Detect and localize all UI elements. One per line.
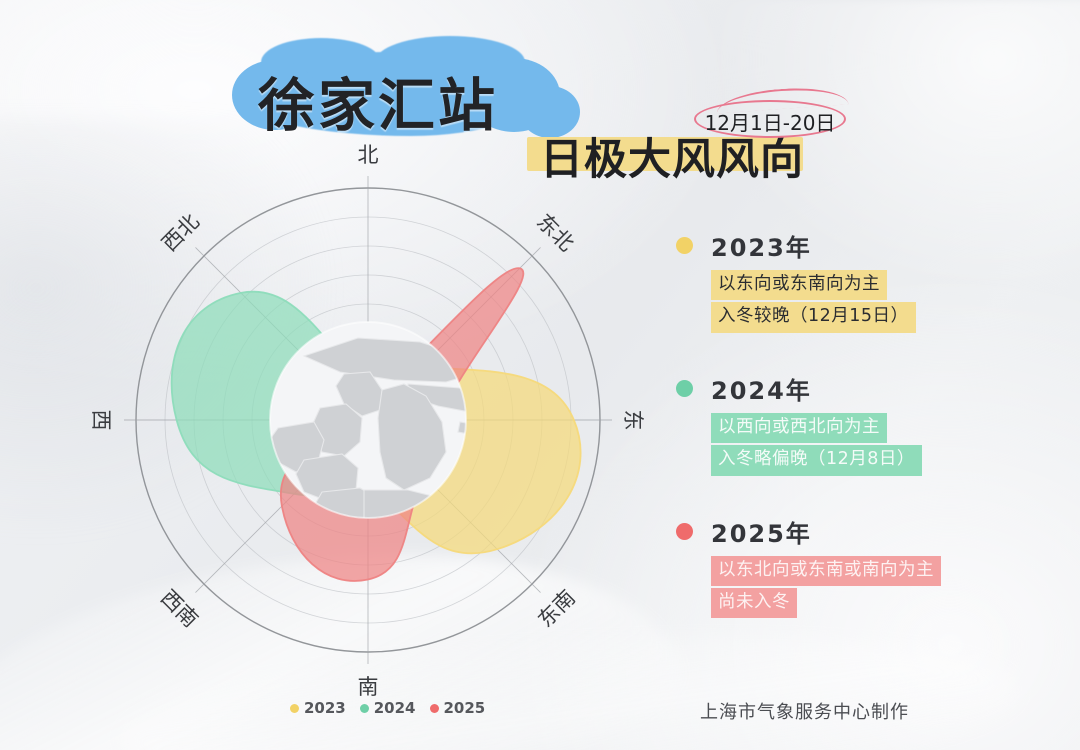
bottom-legend-item-2025[interactable]: 2025: [430, 699, 486, 717]
page-header: 徐家汇站 日极大风风向 12月1日-20日: [0, 42, 1080, 152]
legend-text-2025-line2: 尚未入冬: [711, 588, 797, 618]
legend-text-2025-line1: 以东北向或东南或南向为主: [711, 556, 941, 586]
legend-text-2024-line2: 入冬略偏晚（12月8日）: [711, 445, 922, 475]
legend-year-2023: 2023年: [711, 228, 812, 263]
legend-dot-2024-icon: [676, 380, 693, 397]
bottom-legend-label-2025: 2025: [444, 699, 486, 717]
legend-lines-2024: 以西向或西北向为主 入冬略偏晚（12月8日）: [711, 413, 1052, 478]
bottom-legend-label-2023: 2023: [304, 699, 346, 717]
date-badge-label: 12月1日-20日: [704, 107, 836, 136]
legend-text-2024-line1: 以西向或西北向为主: [711, 413, 887, 443]
bottom-legend-label-2024: 2024: [374, 699, 416, 717]
wind-direction-radar-chart: 北东北东东南南西南西西北: [108, 160, 648, 680]
legend-lines-2023: 以东向或东南向为主 入冬较晚（12月15日）: [711, 270, 1052, 335]
axis-label-北: 北: [358, 139, 379, 169]
legend-text-2023-line1: 以东向或东南向为主: [711, 270, 887, 300]
legend-dot-2023-icon: [676, 237, 693, 254]
legend-year-2025: 2025年: [711, 514, 812, 549]
bottom-legend-dot-2024-icon: [360, 704, 369, 713]
chart-bottom-legend: 202320242025: [290, 699, 485, 717]
legend-text-2023-line2: 入冬较晚（12月15日）: [711, 302, 916, 332]
legend-dot-2025-icon: [676, 523, 693, 540]
axis-label-南: 南: [358, 671, 379, 701]
axis-label-西: 西: [87, 410, 117, 431]
legend-head-2024: 2024年: [672, 371, 1052, 406]
legend-head-2023: 2023年: [672, 228, 1052, 263]
legend-lines-2025: 以东北向或东南或南向为主 尚未入冬: [711, 556, 1052, 621]
legend-block-2023[interactable]: 2023年 以东向或东南向为主 入冬较晚（12月15日）: [672, 228, 1052, 335]
bottom-legend-item-2024[interactable]: 2024: [360, 699, 416, 717]
legend-block-2024[interactable]: 2024年 以西向或西北向为主 入冬略偏晚（12月8日）: [672, 371, 1052, 478]
axis-label-东: 东: [619, 410, 649, 431]
legend-head-2025: 2025年: [672, 514, 1052, 549]
bottom-legend-item-2023[interactable]: 2023: [290, 699, 346, 717]
bottom-legend-dot-2023-icon: [290, 704, 299, 713]
station-title: 徐家汇站: [258, 60, 498, 142]
bottom-legend-dot-2025-icon: [430, 704, 439, 713]
legend-block-2025[interactable]: 2025年 以东北向或东南或南向为主 尚未入冬: [672, 514, 1052, 621]
year-legend-panel: 2023年 以东向或东南向为主 入冬较晚（12月15日） 2024年 以西向或西…: [672, 228, 1052, 656]
credit-text: 上海市气象服务中心制作: [700, 698, 909, 724]
legend-year-2024: 2024年: [711, 371, 812, 406]
